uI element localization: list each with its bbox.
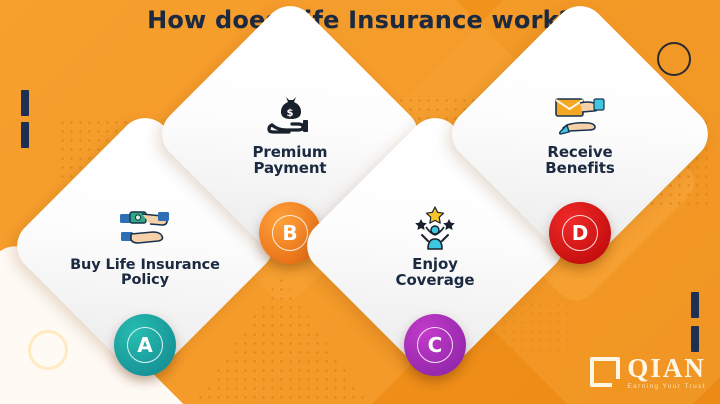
step-badge-d-letter: D	[572, 223, 589, 243]
step-badge-d[interactable]: D	[549, 202, 611, 264]
step-card-a-label: Buy Life Insurance Policy	[70, 258, 220, 289]
step-badge-a-letter: A	[137, 335, 152, 355]
svg-text:$: $	[287, 108, 294, 119]
step-card-d[interactable]: Receive Benefits D	[482, 36, 678, 232]
step-badge-a-ring: A	[127, 327, 163, 363]
step-badge-c[interactable]: C	[404, 314, 466, 376]
step-card-d-label: Receive Benefits	[545, 145, 614, 177]
square-frame-icon	[590, 357, 620, 387]
brand-logo-text: QIAN Earning Your Trust	[627, 355, 706, 391]
step-badge-d-ring: D	[562, 215, 598, 251]
step-badge-c-letter: C	[428, 335, 443, 355]
celebration-star-icon	[407, 203, 463, 253]
infographic-canvas: How does Life Insurance work? Buy Life I…	[0, 0, 720, 404]
money-bag-hand-icon: $	[262, 91, 318, 141]
step-badge-c-ring: C	[417, 327, 453, 363]
decor-bar-left-top	[21, 90, 29, 116]
step-badge-b-ring: B	[272, 215, 308, 251]
decor-bar-right-top	[691, 292, 699, 318]
step-card-c-label: Enjoy Coverage	[396, 257, 475, 289]
brand-logo[interactable]: QIAN Earning Your Trust	[590, 355, 706, 391]
step-badge-b-letter: B	[282, 223, 297, 243]
brand-tagline: Earning Your Trust	[627, 384, 706, 391]
decor-bar-left-bottom	[21, 122, 29, 148]
decor-bar-right-bottom	[691, 326, 699, 352]
step-card-b-label: Premium Payment	[253, 145, 328, 177]
envelope-hand-icon	[552, 91, 608, 141]
step-badge-a[interactable]: A	[114, 314, 176, 376]
handshake-money-icon	[117, 204, 173, 254]
brand-name: QIAN	[627, 355, 706, 382]
